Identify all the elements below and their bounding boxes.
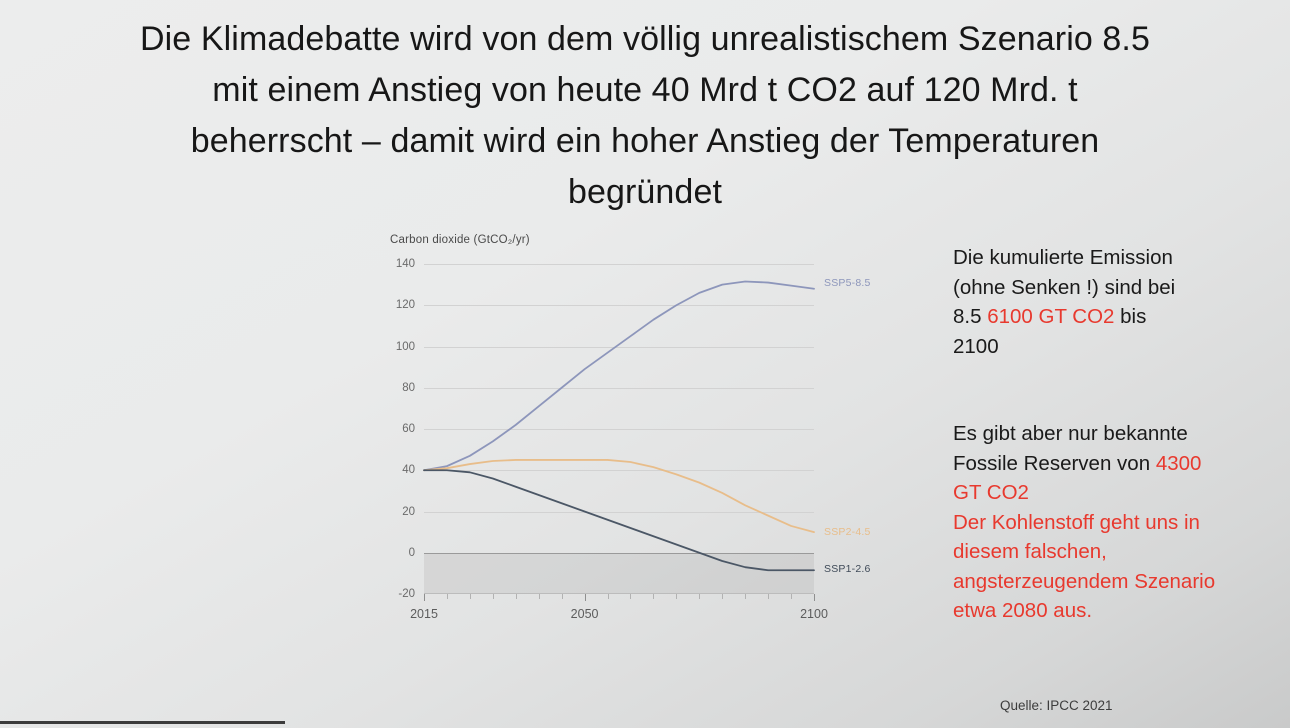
x-axis-tick-label: 2050 [571, 607, 599, 621]
x-axis-tick-label: 2015 [410, 607, 438, 621]
x-axis-minor-tick [676, 594, 677, 599]
annotation-b2-highlight: 4300 [1156, 452, 1202, 475]
annotation-b1-line3-prefix: 8.5 [953, 305, 987, 328]
annotation-text-column: Die kumulierte Emission (ohne Senken !) … [953, 243, 1258, 626]
title-line-4: begründet [40, 167, 1250, 218]
annotation-b2-line7: etwa 2080 aus. [953, 599, 1092, 622]
series-line [424, 282, 814, 471]
x-axis-major-tick [585, 594, 586, 601]
y-axis-tick-label: 120 [396, 299, 415, 311]
annotation-b2-line3: GT CO2 [953, 481, 1029, 504]
annotation-b1-highlight: 6100 GT CO2 [987, 305, 1114, 328]
x-axis-major-tick [814, 594, 815, 601]
y-axis-tick-label: 60 [402, 423, 415, 435]
series-line [424, 460, 814, 532]
title-line-1: Die Klimadebatte wird von dem völlig unr… [40, 14, 1250, 65]
x-axis-minor-tick [539, 594, 540, 599]
bottom-accent-bar [0, 721, 285, 724]
chart-series-lines [424, 264, 814, 594]
emissions-line-chart: Carbon dioxide (GtCO₂/yr) 14012010080604… [372, 228, 892, 628]
annotation-b1-line1: Die kumulierte Emission [953, 246, 1173, 269]
annotation-b2-line2-prefix: Fossile Reserven von [953, 452, 1156, 475]
x-axis-minor-tick [791, 594, 792, 599]
annotation-b1-line4: 2100 [953, 335, 999, 358]
x-axis-major-tick [424, 594, 425, 601]
chart-plot-area: 140120100806040200-20 201520502100 SSP5-… [424, 264, 814, 594]
series-label: SSP5-8.5 [824, 277, 871, 289]
title-line-3: beherrscht – damit wird ein hoher Anstie… [40, 116, 1250, 167]
annotation-b2-line1: Es gibt aber nur bekannte [953, 422, 1188, 445]
slide-canvas: Die Klimadebatte wird von dem völlig unr… [0, 0, 1290, 728]
annotation-b1-line2: (ohne Senken !) sind bei [953, 276, 1175, 299]
x-axis-tick-label: 2100 [800, 607, 828, 621]
x-axis-minor-tick [493, 594, 494, 599]
annotation-spacer [953, 361, 1258, 419]
title-line-2: mit einem Anstieg von heute 40 Mrd t CO2… [40, 65, 1250, 116]
series-label: SSP1-2.6 [824, 563, 871, 575]
series-label: SSP2-4.5 [824, 526, 871, 538]
x-axis-minor-tick [768, 594, 769, 599]
x-axis-minor-tick [562, 594, 563, 599]
series-line [424, 470, 814, 570]
y-axis-tick-label: 140 [396, 258, 415, 270]
page-title: Die Klimadebatte wird von dem völlig unr… [40, 14, 1250, 218]
x-axis-minor-tick [447, 594, 448, 599]
y-axis-tick-label: 100 [396, 341, 415, 353]
annotation-b2-line4: Der Kohlenstoff geht uns in [953, 511, 1200, 534]
y-axis-tick-label: 80 [402, 382, 415, 394]
x-axis-minor-tick [630, 594, 631, 599]
x-axis-minor-tick [653, 594, 654, 599]
x-axis-minor-tick [470, 594, 471, 599]
x-axis-minor-tick [608, 594, 609, 599]
annotation-block-1: Die kumulierte Emission (ohne Senken !) … [953, 243, 1258, 361]
chart-axis-title: Carbon dioxide (GtCO₂/yr) [390, 234, 530, 246]
annotation-b2-line6: angsterzeugendem Szenario [953, 570, 1215, 593]
annotation-block-2: Es gibt aber nur bekannte Fossile Reserv… [953, 419, 1258, 626]
y-axis-tick-label: 0 [409, 547, 415, 559]
source-attribution: Quelle: IPCC 2021 [1000, 698, 1113, 713]
x-axis-minor-tick [516, 594, 517, 599]
y-axis-tick-label: 40 [402, 464, 415, 476]
annotation-b1-line3-suffix: bis [1114, 305, 1146, 328]
x-axis-minor-tick [722, 594, 723, 599]
y-axis-tick-label: -20 [398, 588, 415, 600]
x-axis-minor-tick [745, 594, 746, 599]
y-axis-tick-label: 20 [402, 506, 415, 518]
x-axis-minor-tick [699, 594, 700, 599]
annotation-b2-line5: diesem falschen, [953, 540, 1107, 563]
